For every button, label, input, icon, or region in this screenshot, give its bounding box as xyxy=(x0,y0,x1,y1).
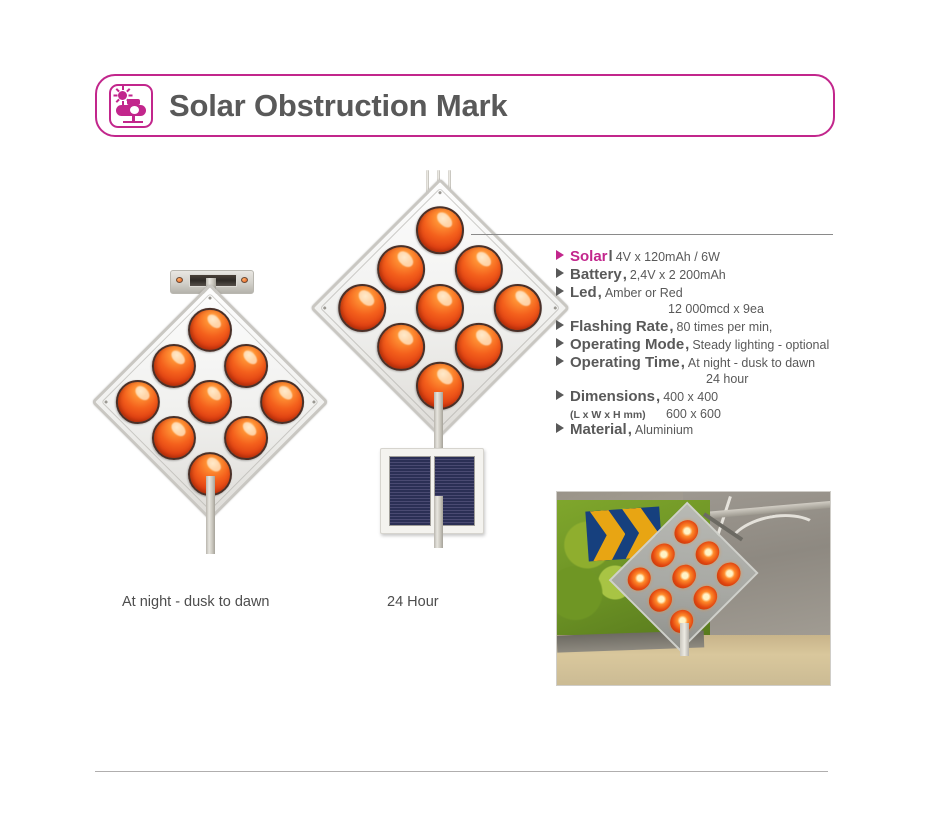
spec-separator: l xyxy=(609,249,613,266)
spec-separator: , xyxy=(669,319,673,336)
spec-value: Steady lighting - optional xyxy=(692,338,829,352)
bullet-arrow-icon xyxy=(556,390,564,400)
spec-separator: , xyxy=(623,267,627,284)
spec-row-dimensions: Dimensions , 400 x 400 xyxy=(556,389,856,406)
bullet-arrow-icon xyxy=(556,250,564,260)
spec-row-battery: Battery , 2,4V x 2 200mAh xyxy=(556,267,856,284)
mast-lower xyxy=(434,496,443,548)
bullet-arrow-icon xyxy=(556,268,564,278)
dimensions-unit-note: (L x W x H mm) xyxy=(556,409,666,421)
spec-label: Operating Time xyxy=(570,355,680,372)
spec-value: 4V x 120mAh / 6W xyxy=(616,250,720,264)
spec-value-secondary: 600 x 600 xyxy=(666,407,721,421)
spec-label: Flashing Rate xyxy=(570,319,668,336)
spec-separator: , xyxy=(685,337,689,354)
photo-sign-post xyxy=(680,623,690,656)
bullet-arrow-icon xyxy=(556,423,564,433)
bullet-arrow-icon xyxy=(556,320,564,330)
lamp-lens-glyph xyxy=(130,106,139,114)
spec-label: Battery xyxy=(570,267,622,284)
bullet-arrow-icon xyxy=(556,286,564,296)
spec-label: Operating Mode xyxy=(570,337,684,354)
spec-value: Aluminium xyxy=(635,423,693,437)
spec-value: At night - dusk to dawn xyxy=(688,356,815,370)
mast-lower xyxy=(206,476,215,554)
caption-at-night: At night - dusk to dawn xyxy=(122,594,270,610)
spec-value: 2,4V x 2 200mAh xyxy=(630,268,726,282)
photo-lamp xyxy=(644,583,677,616)
page-title: Solar Obstruction Mark xyxy=(169,88,507,124)
sun-ray-icon xyxy=(113,94,117,96)
spec-row-solar: Solar l 4V x 120mAh / 6W xyxy=(556,249,856,266)
spec-row-operating-time: Operating Time , At night - dusk to dawn xyxy=(556,355,856,372)
solar-lamp-icon xyxy=(109,84,153,128)
spec-row-led: Led , Amber or Red xyxy=(556,285,856,302)
spec-divider xyxy=(471,234,833,235)
spec-subline-led: 12 000mcd x 9ea xyxy=(556,302,856,318)
spec-row-dimensions-note: (L x W x H mm) 600 x 600 xyxy=(556,407,856,421)
spec-row-flashing-rate: Flashing Rate , 80 times per min, xyxy=(556,319,856,336)
lamp-base-glyph xyxy=(123,121,143,124)
spec-value: 80 times per min, xyxy=(677,320,773,334)
bullet-arrow-icon xyxy=(556,356,564,366)
spec-value: Amber or Red xyxy=(605,286,683,300)
product-image-24-hour xyxy=(300,170,550,580)
lamp-grid xyxy=(323,191,558,426)
sun-ray-icon xyxy=(128,94,132,96)
sun-ray-icon xyxy=(115,88,119,92)
spec-subline-operating-time: 24 hour xyxy=(556,372,856,388)
sun-ray-icon xyxy=(115,98,119,102)
spec-label: Material xyxy=(570,422,627,439)
page-header-banner: Solar Obstruction Mark xyxy=(95,74,835,137)
sun-glyph xyxy=(118,91,127,100)
lamp-cap-glyph xyxy=(127,99,140,105)
solar-panel-module xyxy=(380,448,484,534)
footer-divider xyxy=(95,771,828,772)
specifications-list: Solar l 4V x 120mAh / 6W Battery , 2,4V … xyxy=(556,249,856,440)
roadside-installation-photo xyxy=(556,491,831,686)
photo-lamp xyxy=(691,536,724,569)
solar-cell-column xyxy=(389,456,431,526)
spec-row-operating-mode: Operating Mode , Steady lighting - optio… xyxy=(556,337,856,354)
spec-separator: , xyxy=(656,389,660,406)
sun-ray-icon xyxy=(122,101,124,105)
photo-lamp xyxy=(667,560,700,593)
bracket-led-icon xyxy=(241,277,248,283)
spec-label: Dimensions xyxy=(570,389,655,406)
photo-obstruction-mark xyxy=(617,506,754,657)
spec-label: Led xyxy=(570,285,597,302)
spec-row-material: Material , Aluminium xyxy=(556,422,856,439)
spec-separator: , xyxy=(628,422,632,439)
bracket-led-icon xyxy=(176,277,183,283)
spec-label: Solar xyxy=(570,249,608,266)
bullet-arrow-icon xyxy=(556,338,564,348)
mast-middle xyxy=(434,392,443,450)
caption-24-hour: 24 Hour xyxy=(387,594,439,610)
sun-ray-icon xyxy=(126,88,130,92)
spec-value: 400 x 400 xyxy=(663,390,718,404)
spec-separator: , xyxy=(681,355,685,372)
spec-separator: , xyxy=(598,285,602,302)
sun-ray-icon xyxy=(122,86,124,90)
